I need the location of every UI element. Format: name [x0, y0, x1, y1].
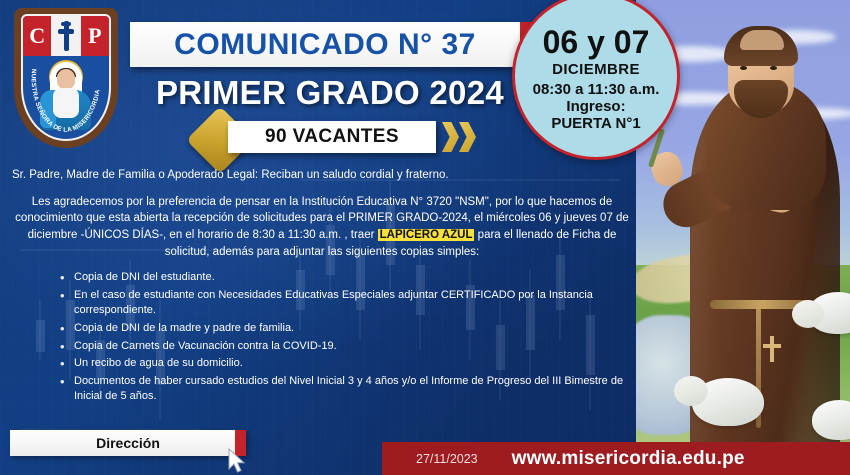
circle-days: 06 y 07 [543, 26, 650, 60]
vacantes-label: 90 VACANTES [265, 126, 399, 148]
grado-title: PRIMER GRADO 2024 [156, 74, 504, 112]
list-item: Copia de DNI del estudiante. [60, 270, 632, 286]
grado-banner: PRIMER GRADO 2024 [140, 70, 520, 116]
footer-red-bar: 27/11/2023 www.misericordia.edu.pe [382, 442, 850, 475]
mouse-cursor-icon [228, 448, 248, 474]
vacantes-banner: 90 VACANTES [196, 114, 496, 158]
school-crest: C P NUESTRA SEÑORA DE LA MISERICORDIA [14, 8, 118, 148]
circle-month: DICIEMBRE [552, 61, 640, 78]
comunicado-title: COMUNICADO N° 37 [174, 28, 476, 62]
circle-entry-label: Ingreso: [566, 98, 625, 115]
requirements-list: Copia de DNI del estudiante. En el caso … [60, 270, 632, 405]
circle-time: 08:30 a 11:30 a.m. [533, 81, 660, 98]
list-item: En el caso de estudiante con Necesidades… [60, 288, 632, 319]
footer-website[interactable]: www.misericordia.edu.pe [512, 448, 745, 470]
greeting-text: Sr. Padre, Madre de Familia o Apoderado … [12, 168, 632, 184]
main-paragraph: Les agradecemos por la preferencia de pe… [12, 194, 632, 261]
comunicado-banner: COMUNICADO N° 37 [130, 22, 520, 67]
direccion-label: Dirección [96, 435, 160, 451]
sheep-head [792, 300, 824, 328]
circle-gate: PUERTA N°1 [551, 115, 640, 132]
chevron-right-icon [442, 122, 459, 152]
crest-motto-text: NUESTRA SEÑORA DE LA MISERICORDIA [30, 69, 102, 134]
footer-date: 27/11/2023 [416, 452, 478, 466]
list-item: Documentos de haber cursado estudios del… [60, 374, 632, 405]
crest-motto: NUESTRA SEÑORA DE LA MISERICORDIA [23, 16, 109, 140]
sheep-head [674, 376, 708, 406]
direccion-bar: Dirección [10, 430, 246, 456]
body-copy: Sr. Padre, Madre de Familia o Apoderado … [12, 168, 632, 407]
sheep [812, 400, 850, 440]
svg-text:NUESTRA SEÑORA DE LA MISERICOR: NUESTRA SEÑORA DE LA MISERICORDIA [30, 69, 102, 134]
poster-canvas: C P NUESTRA SEÑORA DE LA MISERICORDIA [0, 0, 850, 475]
chevron-right-icon [459, 122, 476, 152]
list-item: Copia de Carnets de Vacunación contra la… [60, 339, 632, 355]
list-item: Copia de DNI de la madre y padre de fami… [60, 321, 632, 337]
cross-icon-bar [763, 344, 781, 348]
list-item: Un recibo de agua de su domicilio. [60, 356, 632, 372]
highlight-lapicero-azul: LAPICERO AZUL [378, 229, 475, 241]
cross-icon [770, 336, 774, 362]
